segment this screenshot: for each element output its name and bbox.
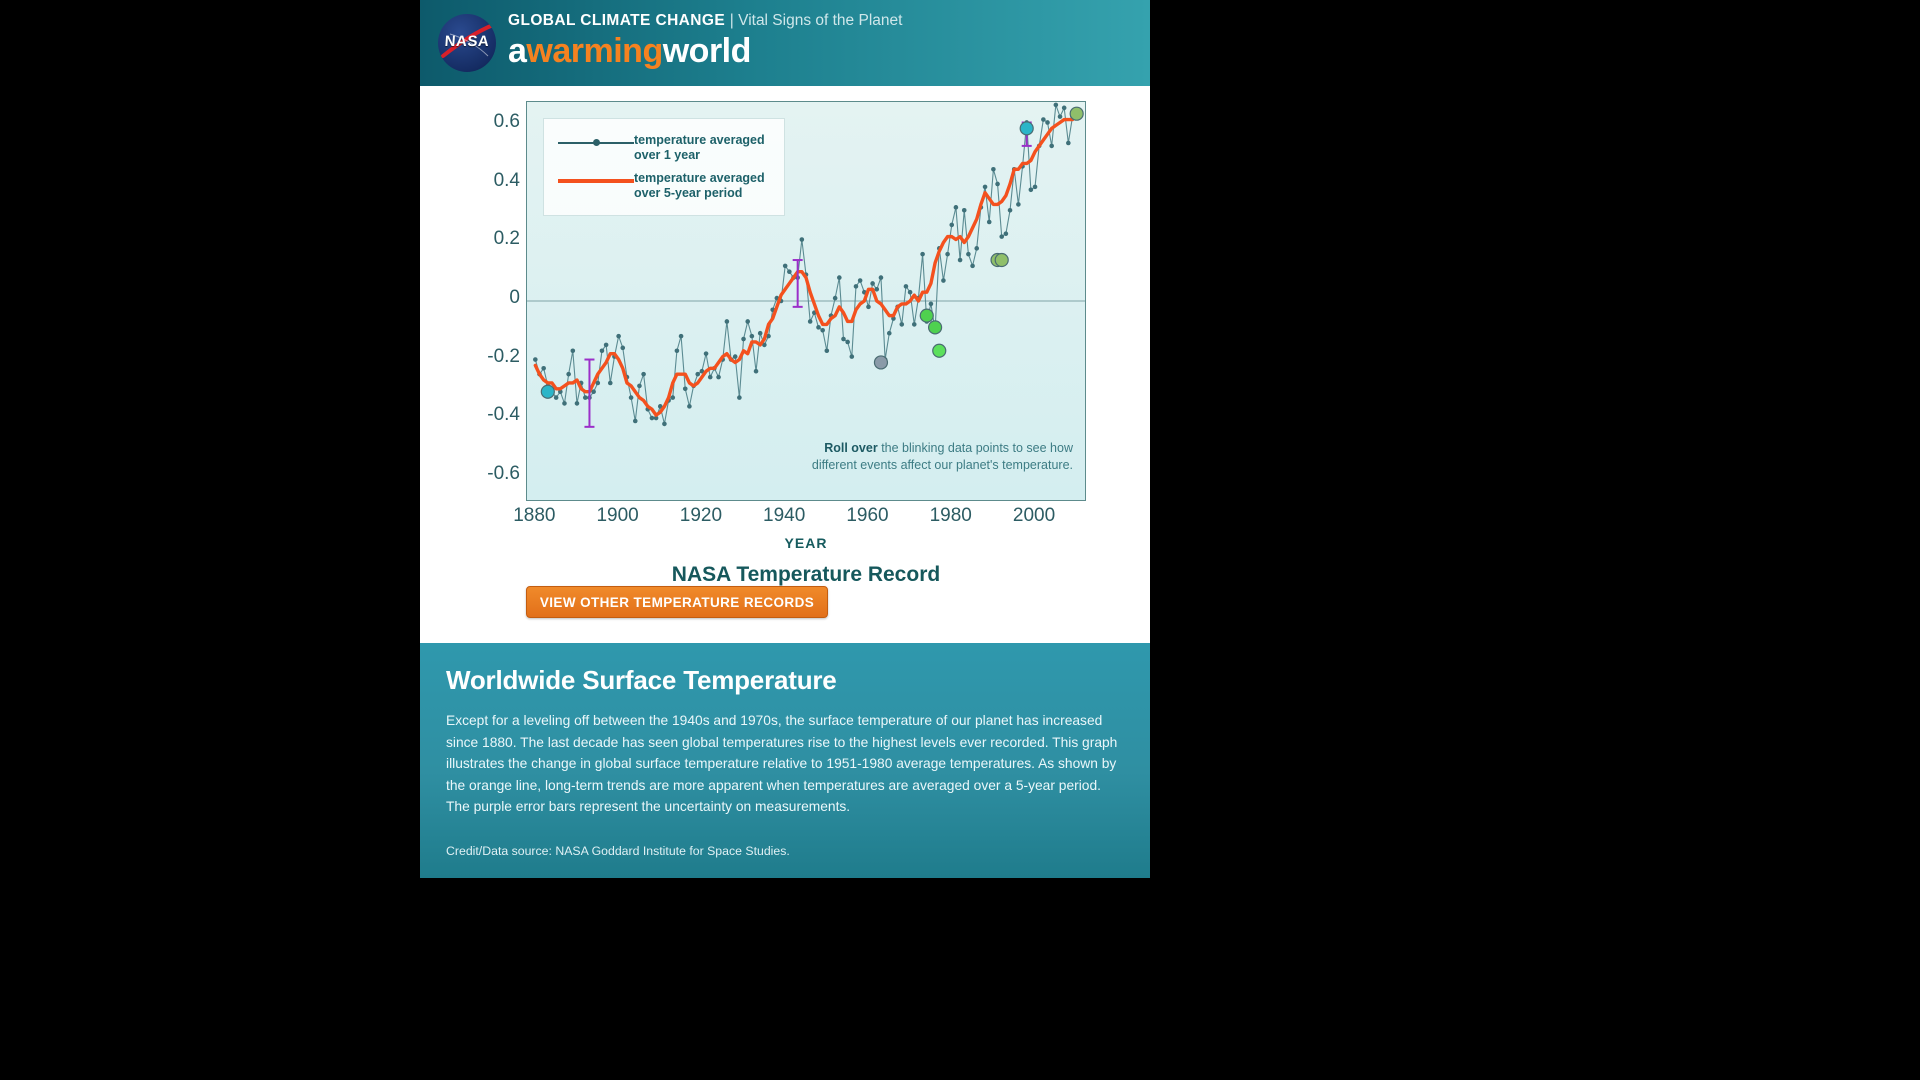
y-tick-label: -0.6 — [460, 463, 520, 485]
series-marker — [1062, 106, 1067, 111]
series-marker — [1016, 202, 1021, 207]
series-marker — [708, 375, 713, 380]
header-title-world: world — [663, 32, 751, 70]
series-marker — [929, 302, 934, 307]
series-marker — [920, 252, 925, 257]
series-marker — [966, 252, 971, 257]
series-marker — [600, 348, 605, 353]
y-tick-label: 0.4 — [460, 170, 520, 192]
site-header: NASA GLOBAL CLIMATE CHANGE | Vital Signs… — [420, 0, 1150, 86]
chart-panel: TEMPERATURE CHANGE (°C) 0.60.40.20-0.2-0… — [420, 86, 1150, 643]
blinking-data-point[interactable] — [995, 254, 1008, 267]
series-marker — [783, 264, 788, 269]
series-marker — [954, 205, 959, 210]
series-marker — [908, 290, 913, 295]
series-marker — [604, 343, 609, 348]
y-tick-label: 0.2 — [460, 228, 520, 250]
series-marker — [983, 185, 988, 190]
series-marker — [991, 167, 996, 172]
x-tick-label: 1920 — [666, 505, 736, 527]
series-marker — [1066, 141, 1071, 146]
blinking-data-point[interactable] — [541, 385, 554, 398]
x-axis-title: YEAR — [526, 535, 1086, 551]
series-marker — [800, 237, 805, 242]
series-marker — [787, 269, 792, 274]
y-tick-label: 0.6 — [460, 111, 520, 133]
x-tick-label: 1940 — [749, 505, 819, 527]
series-marker — [608, 381, 613, 386]
series-marker — [541, 366, 546, 371]
x-tick-label: 1960 — [832, 505, 902, 527]
view-other-temperature-records-button[interactable]: VIEW OTHER TEMPERATURE RECORDS — [526, 586, 828, 618]
annotation-line2: different events affect our planet's tem… — [812, 458, 1073, 472]
header-title-a: a — [508, 32, 526, 70]
series-marker — [825, 348, 830, 353]
series-marker — [945, 252, 950, 257]
series-marker — [841, 337, 846, 342]
series-marker — [725, 319, 730, 324]
header-eyebrow: GLOBAL CLIMATE CHANGE | Vital Signs of t… — [508, 12, 902, 30]
series-marker — [858, 278, 863, 283]
series-marker — [675, 348, 680, 353]
series-marker — [741, 337, 746, 342]
series-marker — [679, 334, 684, 339]
y-tick-label: 0 — [460, 287, 520, 309]
screenshot-stage: NASA GLOBAL CLIMATE CHANGE | Vital Signs… — [0, 0, 1920, 1080]
footer-heading: Worldwide Surface Temperature — [446, 665, 1124, 696]
blinking-data-point[interactable] — [1020, 122, 1033, 135]
legend-label-5yr: temperature averagedover 5-year period — [634, 171, 765, 200]
series-marker — [616, 334, 621, 339]
series-marker — [854, 284, 859, 289]
series-marker — [1004, 231, 1009, 236]
x-tick-label: 1880 — [499, 505, 569, 527]
plot-area: temperature averagedover 1 year temperat… — [526, 101, 1086, 501]
series-marker — [650, 416, 655, 421]
series-marker — [620, 346, 625, 351]
series-marker — [733, 354, 738, 359]
chart-title: NASA Temperature Record — [476, 563, 1136, 587]
series-marker — [1058, 114, 1063, 119]
series-marker — [837, 275, 842, 280]
series-marker — [750, 334, 755, 339]
footer-section: Worldwide Surface Temperature Except for… — [420, 643, 1150, 878]
y-tick-label: -0.4 — [460, 404, 520, 426]
series-marker — [758, 331, 763, 336]
legend-line-icon — [558, 174, 634, 188]
series-marker — [737, 395, 742, 400]
series-marker — [754, 369, 759, 374]
series-marker — [704, 351, 709, 356]
series-marker — [820, 328, 825, 333]
footer-credit: Credit/Data source: NASA Goddard Institu… — [446, 844, 1124, 858]
series-marker — [641, 372, 646, 377]
annotation-rest: the blinking data points to see how — [878, 441, 1073, 455]
series-marker — [575, 401, 580, 406]
series-marker — [633, 419, 638, 424]
series-marker — [845, 340, 850, 345]
chart-legend: temperature averagedover 1 year temperat… — [543, 118, 785, 216]
blinking-data-point[interactable] — [1070, 107, 1083, 120]
series-marker — [866, 305, 871, 310]
series-marker — [533, 357, 538, 362]
legend-item-5yr[interactable]: temperature averagedover 5-year period — [558, 171, 765, 200]
plot-wrapper: TEMPERATURE CHANGE (°C) 0.60.40.20-0.2-0… — [526, 101, 1086, 501]
series-marker — [1045, 120, 1050, 125]
x-tick-label: 2000 — [999, 505, 1069, 527]
series-marker — [941, 278, 946, 283]
series-marker — [816, 325, 821, 330]
series-marker — [970, 264, 975, 269]
legend-label-annual: temperature averagedover 1 year — [634, 133, 765, 162]
legend-line-dot-icon — [558, 136, 634, 150]
series-marker — [1049, 144, 1054, 149]
header-eyebrow-thin: | Vital Signs of the Planet — [730, 12, 903, 29]
annotation-bold: Roll over — [824, 441, 878, 455]
footer-body: Except for a leveling off between the 19… — [446, 710, 1124, 818]
series-marker — [962, 208, 967, 213]
series-marker — [745, 319, 750, 324]
series-marker — [974, 246, 979, 251]
series-marker — [958, 258, 963, 263]
blinking-data-point[interactable] — [920, 309, 933, 322]
series-marker — [912, 322, 917, 327]
y-tick-label: -0.2 — [460, 346, 520, 368]
series-marker — [904, 284, 909, 289]
series-marker — [637, 384, 642, 389]
series-marker — [899, 322, 904, 327]
series-marker — [879, 275, 884, 280]
series-marker — [949, 223, 954, 228]
header-title-warming: warming — [526, 32, 662, 70]
series-marker — [566, 372, 571, 377]
rollover-annotation: Roll over the blinking data points to se… — [773, 440, 1073, 474]
series-marker — [870, 281, 875, 286]
series-marker — [1008, 208, 1013, 213]
header-title: awarmingworld — [508, 32, 751, 71]
x-tick-label: 1980 — [916, 505, 986, 527]
series-marker — [995, 182, 1000, 187]
series-marker — [987, 220, 992, 225]
header-eyebrow-bold: GLOBAL CLIMATE CHANGE — [508, 12, 725, 29]
series-marker — [1054, 103, 1059, 108]
nasa-logo-text: NASA — [438, 33, 496, 50]
series-marker — [629, 395, 634, 400]
series-marker — [687, 404, 692, 409]
series-marker — [683, 386, 688, 391]
blinking-data-point[interactable] — [929, 321, 942, 334]
series-marker — [583, 395, 588, 400]
blinking-data-point[interactable] — [874, 356, 887, 369]
series-marker — [716, 375, 721, 380]
nasa-meatball-logo[interactable]: NASA — [438, 14, 496, 72]
series-marker — [695, 372, 700, 377]
series-marker — [1041, 117, 1046, 122]
series-marker — [999, 234, 1004, 239]
legend-item-annual[interactable]: temperature averagedover 1 year — [558, 133, 765, 162]
series-marker — [662, 422, 667, 427]
series-marker — [887, 331, 892, 336]
series-marker — [571, 348, 576, 353]
x-tick-label: 1900 — [583, 505, 653, 527]
blinking-data-point[interactable] — [933, 344, 946, 357]
series-marker — [554, 395, 559, 400]
series-marker — [562, 401, 567, 406]
series-marker — [670, 395, 675, 400]
series-marker — [1033, 185, 1038, 190]
nasa-warming-world-card: NASA GLOBAL CLIMATE CHANGE | Vital Signs… — [420, 0, 1150, 878]
series-marker — [833, 296, 838, 301]
series-marker — [808, 319, 813, 324]
series-marker — [850, 354, 855, 359]
series-marker — [1029, 187, 1034, 192]
series-marker — [874, 287, 879, 292]
